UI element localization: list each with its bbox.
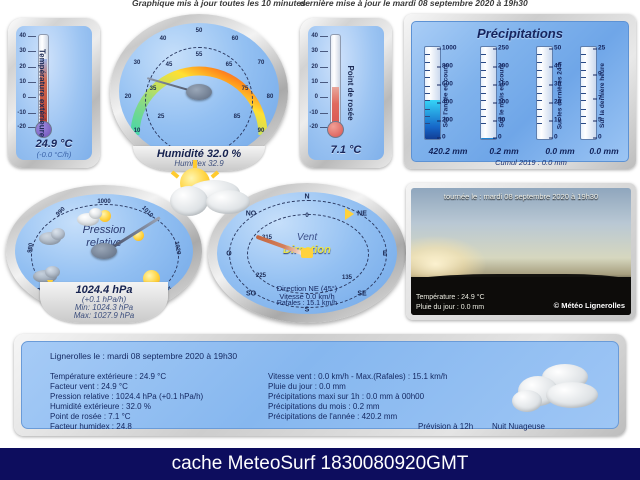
wind-degree: 270 bbox=[242, 307, 252, 313]
webcam-overlay-rain: Pluie du jour : 0.0 mm bbox=[416, 304, 484, 311]
bottom-status-bar: cache MeteoSurf 1830080920GMT bbox=[0, 448, 640, 480]
caption-last-update: dernière mise à jour le mardi 08 septemb… bbox=[300, 0, 528, 8]
humidity-hub bbox=[186, 84, 212, 100]
dew-tick: 40 bbox=[311, 33, 318, 39]
wind-direction-marker bbox=[345, 208, 354, 220]
precip-graduations bbox=[425, 47, 440, 139]
temperature-trend: (-0.0 °C/h) bbox=[16, 150, 92, 159]
webcam-caption: tournée le : mardi 08 septembre 2020 à 1… bbox=[411, 192, 631, 201]
bottom-bar-text: cache MeteoSurf 1830080920GMT bbox=[172, 453, 469, 475]
hum-inner-tick: 75 bbox=[242, 86, 249, 92]
humidity-inner-ring bbox=[145, 47, 253, 155]
precip-value: 0.2 mm bbox=[476, 146, 532, 156]
temp-tick: 20 bbox=[19, 64, 26, 70]
precip-tick: 0 bbox=[442, 134, 446, 141]
precip-tick: 250 bbox=[498, 45, 509, 52]
summary-header: Lignerolles le : mardi 08 septembre 2020… bbox=[50, 351, 237, 361]
precipitation-panel[interactable]: Précipitations 1000 800 600 400 bbox=[404, 14, 636, 169]
wind-gust-text: Rafales : 15.1 km/h bbox=[217, 300, 397, 307]
hum-tick: 30 bbox=[134, 60, 141, 66]
precip-bar bbox=[580, 46, 597, 140]
dewpoint-tube bbox=[330, 34, 341, 130]
precip-tick: 0 bbox=[498, 134, 502, 141]
current-conditions-icon bbox=[160, 168, 270, 224]
hum-tick: 60 bbox=[232, 36, 239, 42]
dew-tick: 0 bbox=[315, 94, 318, 100]
summary-line: Facteur humidex : 24.8 bbox=[50, 422, 132, 431]
webcam-overlay-temperature: Température : 24.9 °C bbox=[416, 294, 485, 301]
dewpoint-value: 7.1 °C bbox=[308, 144, 384, 156]
summary-line: Précipitations du mois : 0.2 mm bbox=[268, 402, 380, 411]
wind-cardinal-ne: NE bbox=[357, 211, 367, 218]
hum-tick: 70 bbox=[258, 60, 265, 66]
forecast-cloud-icon bbox=[512, 360, 612, 422]
hum-inner-tick: 85 bbox=[234, 114, 241, 120]
humidex-value: Humidex 32.9 bbox=[133, 159, 265, 168]
temp-tick: 0 bbox=[23, 94, 26, 100]
precip-tick: 1000 bbox=[442, 45, 456, 52]
summary-line: Pression relative : 1024.4 hPa (+0.1 hPa… bbox=[50, 392, 203, 401]
forecast-text: Nuit Nuageuse bbox=[492, 422, 545, 431]
precip-label: Sur l'année en cours bbox=[442, 64, 449, 128]
webcam-credit: © Météo Lignerolles bbox=[554, 301, 625, 310]
precip-tick: 50 bbox=[554, 45, 561, 52]
summary-line: Précipitations maxi sur 1h : 0.0 mm à 00… bbox=[268, 392, 424, 401]
precip-graduations bbox=[581, 47, 596, 139]
precip-tick: 25 bbox=[598, 45, 605, 52]
temp-tick: 40 bbox=[19, 33, 26, 39]
temp-tick: 30 bbox=[19, 48, 26, 54]
precip-label: Sur la dernière heure bbox=[599, 63, 606, 128]
forecast-label: Prévision à 12h bbox=[418, 422, 473, 431]
summary-line: Température extérieure : 24.9 °C bbox=[50, 372, 166, 381]
temperature-label: Température extérieure bbox=[37, 49, 46, 137]
hum-inner-tick: 35 bbox=[150, 86, 157, 92]
hum-tick: 50 bbox=[196, 28, 203, 34]
precip-value: 420.2 mm bbox=[420, 146, 476, 156]
hum-inner-tick: 45 bbox=[166, 62, 173, 68]
precip-value: 0.0 mm bbox=[576, 146, 632, 156]
summary-line: Point de rosée : 7.1 °C bbox=[50, 412, 131, 421]
humidity-gauge[interactable]: 50 40 30 20 10 60 70 80 90 55 45 35 25 6… bbox=[110, 14, 288, 169]
dewpoint-bulb bbox=[327, 121, 344, 138]
precip-graduations bbox=[481, 47, 496, 139]
pressure-max: Max: 1027.9 hPa bbox=[40, 311, 168, 320]
wind-cardinal-n: N bbox=[304, 194, 309, 201]
wind-degree: 135 bbox=[342, 275, 352, 281]
caption-update-interval: Graphique mis à jour toutes les 10 minut… bbox=[132, 0, 306, 8]
wind-degree: 0 bbox=[305, 213, 308, 219]
precip-tick: 0 bbox=[598, 134, 602, 141]
dew-tick: 30 bbox=[311, 48, 318, 54]
temperature-gauge[interactable]: 40 30 20 10 0 -10 -20 Température extéri… bbox=[8, 18, 100, 168]
wind-degree: 180 bbox=[362, 307, 372, 313]
temp-tick: -20 bbox=[17, 124, 26, 130]
hum-inner-tick: 25 bbox=[158, 114, 165, 120]
summary-panel[interactable]: Lignerolles le : mardi 08 septembre 2020… bbox=[14, 334, 626, 436]
weather-dashboard: Graphique mis à jour toutes les 10 minut… bbox=[0, 0, 640, 480]
precip-bar bbox=[480, 46, 497, 140]
hum-tick: 40 bbox=[160, 36, 167, 42]
wind-vane-hub bbox=[301, 248, 313, 258]
summary-line: Précipitations de l'année : 420.2 mm bbox=[268, 412, 397, 421]
temp-tick: 10 bbox=[19, 79, 26, 85]
dewpoint-gauge-face: 40 30 20 10 0 -10 -20 Point de rosée 7.1… bbox=[308, 26, 384, 160]
summary-line: Vitesse vent : 0.0 km/h - Max.(Rafales) … bbox=[268, 372, 447, 381]
dew-tick: 10 bbox=[311, 79, 318, 85]
precip-bar bbox=[424, 46, 441, 140]
pressure-readout: 1024.4 hPa (+0.1 hPa/h) Min: 1024.3 hPa … bbox=[40, 282, 168, 323]
temperature-value: 24.9 °C bbox=[16, 138, 92, 150]
precipitation-face: Précipitations 1000 800 600 400 bbox=[411, 21, 629, 162]
dewpoint-gauge[interactable]: 40 30 20 10 0 -10 -20 Point de rosée 7.1… bbox=[300, 18, 392, 168]
hum-tick: 90 bbox=[258, 128, 265, 134]
pressure-hub bbox=[91, 243, 117, 259]
hum-inner-tick: 55 bbox=[196, 52, 203, 58]
precip-label: Sur les dernières 24 h bbox=[556, 62, 563, 130]
webcam-panel[interactable]: tournée le : mardi 08 septembre 2020 à 1… bbox=[406, 183, 636, 320]
humidity-gauge-face: 50 40 30 20 10 60 70 80 90 55 45 35 25 6… bbox=[119, 23, 279, 160]
summary-face: Lignerolles le : mardi 08 septembre 2020… bbox=[21, 341, 619, 429]
wind-degree: 225 bbox=[256, 273, 266, 279]
webcam-image: tournée le : mardi 08 septembre 2020 à 1… bbox=[411, 188, 631, 315]
precip-tick: 0 bbox=[554, 134, 558, 141]
dew-tick: -10 bbox=[309, 110, 318, 116]
precip-value-secondary: Cumul 2019 : 0.0 mm bbox=[476, 158, 586, 167]
summary-line: Facteur vent : 24.9 °C bbox=[50, 382, 128, 391]
summary-line: Pluie du jour : 0.0 mm bbox=[268, 382, 346, 391]
precip-label: Sur le mois en cours bbox=[498, 64, 505, 128]
dewpoint-label: Point de rosée bbox=[346, 65, 355, 120]
summary-line: Humidité extérieure : 32.0 % bbox=[50, 402, 151, 411]
wind-title-line1: Vent bbox=[217, 232, 397, 243]
precip-bar bbox=[536, 46, 553, 140]
dew-tick: -20 bbox=[309, 124, 318, 130]
hum-tick: 10 bbox=[134, 128, 141, 134]
precip-graduations bbox=[537, 47, 552, 139]
hum-tick: 80 bbox=[267, 94, 274, 100]
pres-tick: 1000 bbox=[97, 199, 110, 205]
wind-cardinal-s: S bbox=[305, 307, 310, 314]
temperature-gauge-face: 40 30 20 10 0 -10 -20 Température extéri… bbox=[16, 26, 92, 160]
hum-inner-tick: 65 bbox=[226, 62, 233, 68]
temp-tick: -10 bbox=[17, 110, 26, 116]
hum-tick: 20 bbox=[125, 94, 132, 100]
dew-tick: 20 bbox=[311, 64, 318, 70]
precipitation-title: Précipitations bbox=[412, 26, 628, 41]
